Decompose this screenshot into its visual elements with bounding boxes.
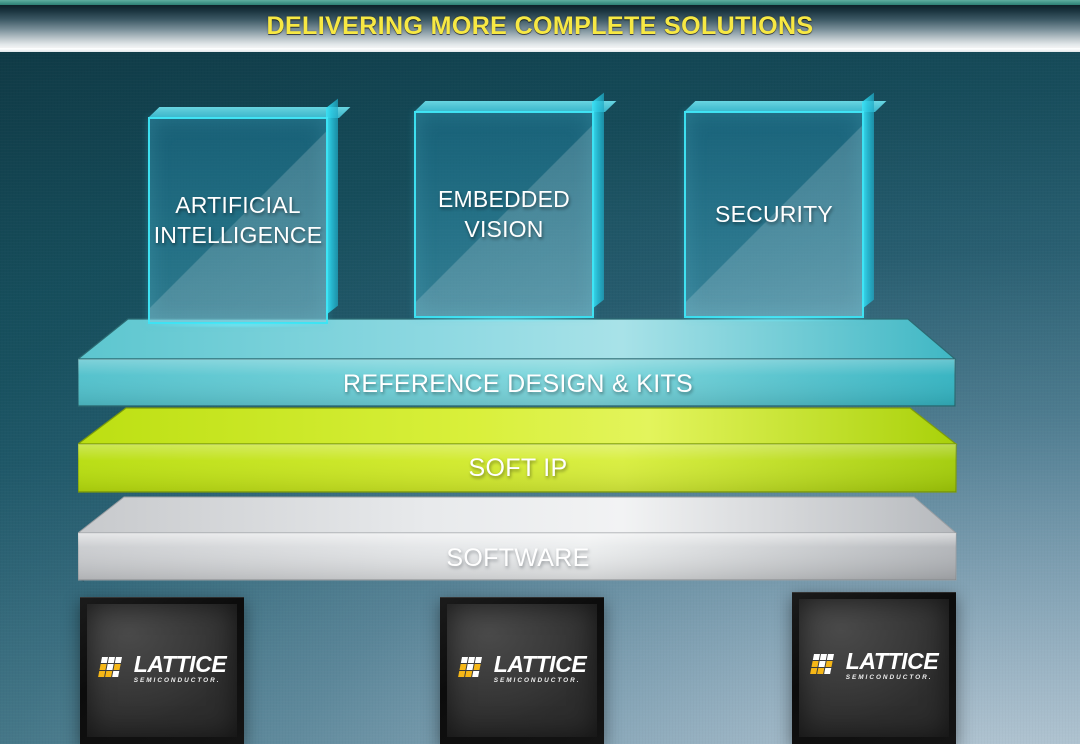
panel-label-security-line1: SECURITY	[715, 201, 833, 227]
slide-canvas: DELIVERING MORE COMPLETE SOLUTIONS	[0, 0, 1080, 744]
slide-header: DELIVERING MORE COMPLETE SOLUTIONS	[0, 0, 1080, 52]
lattice-grid-icon	[810, 654, 840, 678]
lattice-grid-icon	[458, 657, 488, 681]
panel-base-glow-security	[682, 316, 866, 322]
panel-base-glow-ai	[146, 322, 330, 328]
panel-label-ev-line1: EMBEDDED	[438, 186, 570, 212]
panel-label-ai: ARTIFICIAL INTELLIGENCE	[146, 191, 331, 250]
panel-label-ev-line2: VISION	[464, 216, 543, 242]
panel-label-ai-line1: ARTIFICIAL	[175, 192, 301, 218]
lattice-grid-icon	[98, 657, 128, 681]
lattice-wordmark-center: LATTICE SEMICONDUCTOR.	[494, 653, 587, 684]
lattice-brand-right: LATTICE	[846, 650, 939, 673]
panel-label-security: SECURITY	[707, 200, 841, 229]
solution-panel-artificial-intelligence[interactable]: ARTIFICIAL INTELLIGENCE	[148, 117, 328, 324]
chip-package-left[interactable]: LATTICE SEMICONDUCTOR.	[80, 597, 244, 744]
lattice-brand-left: LATTICE	[134, 653, 227, 676]
solution-panel-security[interactable]: SECURITY	[684, 111, 864, 318]
panel-front-face-security: SECURITY	[684, 111, 864, 318]
lattice-tagline-right: SEMICONDUCTOR.	[846, 675, 933, 681]
lattice-tagline-left: SEMICONDUCTOR.	[134, 678, 221, 684]
chip-die-center: LATTICE SEMICONDUCTOR.	[447, 604, 597, 737]
panel-label-embedded-vision: EMBEDDED VISION	[430, 185, 578, 244]
panel-front-face-embedded-vision: EMBEDDED VISION	[414, 111, 594, 318]
header-bottom-rule	[0, 48, 1080, 52]
panel-label-ai-line2: INTELLIGENCE	[154, 222, 323, 248]
chip-package-right[interactable]: LATTICE SEMICONDUCTOR.	[792, 592, 956, 744]
panel-front-face-ai: ARTIFICIAL INTELLIGENCE	[148, 117, 328, 324]
lattice-logo-left: LATTICE SEMICONDUCTOR.	[98, 653, 227, 684]
solution-panel-embedded-vision[interactable]: EMBEDDED VISION	[414, 111, 594, 318]
layer-soft-ip[interactable]: SOFT IP	[78, 400, 958, 498]
lattice-wordmark-right: LATTICE SEMICONDUCTOR.	[846, 650, 939, 681]
lattice-logo-center: LATTICE SEMICONDUCTOR.	[458, 653, 587, 684]
page-title: DELIVERING MORE COMPLETE SOLUTIONS	[0, 5, 1080, 48]
layer-shape-soft-ip	[78, 400, 958, 498]
lattice-logo-right: LATTICE SEMICONDUCTOR.	[810, 650, 939, 681]
lattice-tagline-center: SEMICONDUCTOR.	[494, 678, 581, 684]
chip-package-center[interactable]: LATTICE SEMICONDUCTOR.	[440, 597, 604, 744]
lattice-wordmark-left: LATTICE SEMICONDUCTOR.	[134, 653, 227, 684]
chip-die-right: LATTICE SEMICONDUCTOR.	[799, 599, 949, 737]
panel-base-glow-embedded-vision	[412, 316, 596, 322]
layer-shape-software	[78, 491, 958, 586]
layer-software[interactable]: SOFTWARE	[78, 491, 958, 586]
chip-die-left: LATTICE SEMICONDUCTOR.	[87, 604, 237, 737]
lattice-brand-center: LATTICE	[494, 653, 587, 676]
